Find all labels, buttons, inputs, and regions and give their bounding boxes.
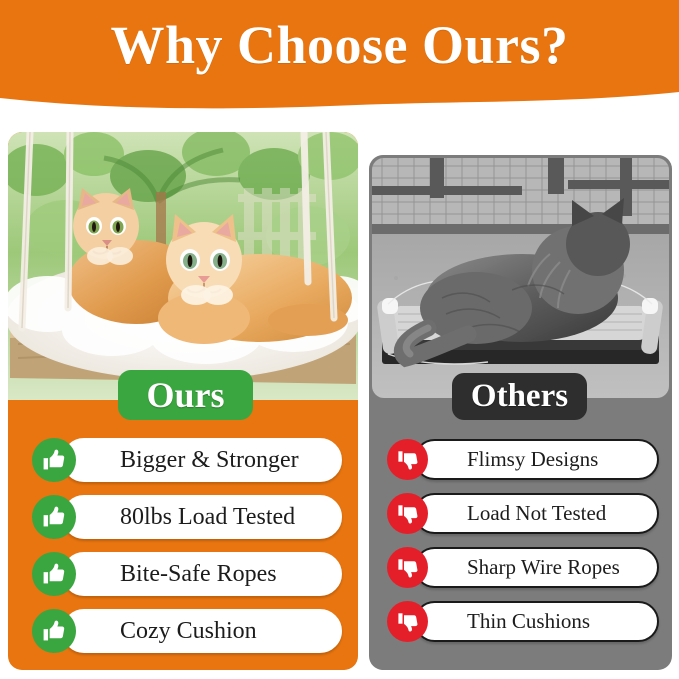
others-badge-label: Others bbox=[471, 378, 568, 415]
ours-badge-label: Ours bbox=[146, 374, 224, 416]
comparison-infographic: Why Choose Ours? bbox=[0, 0, 679, 679]
ours-panel: Ours Bigger & Stronger bbox=[8, 132, 358, 670]
thumbs-up-icon bbox=[32, 552, 76, 596]
thumbs-down-icon bbox=[387, 547, 428, 588]
list-item[interactable]: Cozy Cushion bbox=[32, 609, 342, 653]
others-feature-label: Flimsy Designs bbox=[467, 439, 598, 480]
thumbs-up-icon bbox=[32, 609, 76, 653]
others-photo-illustration bbox=[372, 158, 669, 398]
others-feature-list: Flimsy Designs Load Not Tested bbox=[387, 439, 659, 655]
ours-photo-illustration bbox=[8, 132, 358, 400]
list-item[interactable]: Bigger & Stronger bbox=[32, 438, 342, 482]
list-item[interactable]: Load Not Tested bbox=[387, 493, 659, 534]
list-item[interactable]: Thin Cushions bbox=[387, 601, 659, 642]
list-item[interactable]: Flimsy Designs bbox=[387, 439, 659, 480]
others-feature-label: Load Not Tested bbox=[467, 493, 606, 534]
ours-feature-label: Bigger & Stronger bbox=[120, 438, 299, 482]
list-item[interactable]: 80lbs Load Tested bbox=[32, 495, 342, 539]
ours-feature-list: Bigger & Stronger 80lbs Load Tested bbox=[32, 438, 342, 666]
others-feature-label: Thin Cushions bbox=[467, 601, 590, 642]
ours-badge: Ours bbox=[118, 370, 253, 420]
others-photo bbox=[372, 158, 669, 398]
thumbs-down-icon bbox=[387, 493, 428, 534]
header-banner: Why Choose Ours? bbox=[0, 0, 679, 112]
others-panel: Others Flimsy Designs bbox=[369, 155, 672, 670]
list-item[interactable]: Bite-Safe Ropes bbox=[32, 552, 342, 596]
ours-photo bbox=[8, 132, 358, 400]
thumbs-up-icon bbox=[32, 495, 76, 539]
list-item[interactable]: Sharp Wire Ropes bbox=[387, 547, 659, 588]
thumbs-up-icon bbox=[32, 438, 76, 482]
others-feature-label: Sharp Wire Ropes bbox=[467, 547, 620, 588]
thumbs-down-icon bbox=[387, 439, 428, 480]
ours-feature-label: Bite-Safe Ropes bbox=[120, 552, 277, 596]
ours-feature-label: 80lbs Load Tested bbox=[120, 495, 295, 539]
ours-feature-label: Cozy Cushion bbox=[120, 609, 257, 653]
others-badge: Others bbox=[452, 373, 587, 420]
thumbs-down-icon bbox=[387, 601, 428, 642]
page-title: Why Choose Ours? bbox=[0, 14, 679, 76]
